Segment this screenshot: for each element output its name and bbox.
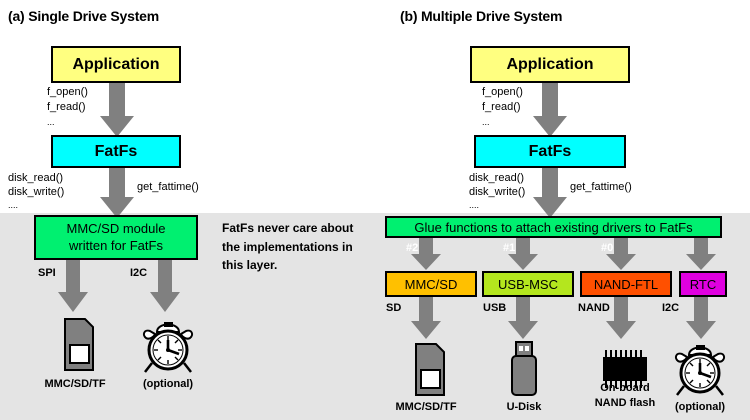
single-device-caption-card: MMC/SD/TF [35,377,115,392]
single-arrow-fatfs-to-module [100,168,134,218]
multi-get-fattime-call: get_fattime() [570,180,632,195]
multi-fatfs-call-ellipsis: .... [469,200,479,212]
single-app-call-ellipsis: ... [47,117,55,129]
glue-functions-box[interactable]: Glue functions to attach existing driver… [385,216,722,238]
multi-fatfs-call-disk-read: disk_read() [469,171,524,186]
multi-fatfs-label: FatFs [529,143,572,161]
single-arrow-spi [58,260,88,312]
bus-label-sd: SD [386,302,401,314]
single-device-caption-clock: (optional) [128,377,208,392]
implementation-note-line2: the implementations in [222,238,353,257]
driver-box-nandftl[interactable]: NAND-FTL [580,271,672,297]
usb-drive-icon [508,341,540,397]
single-mmcsd-module-box[interactable]: MMC/SD module written for FatFs [34,215,198,260]
multi-app-call-ellipsis: ... [482,117,490,129]
single-mmcsd-module-line2: written for FatFs [69,238,163,254]
driver-label-usbmsc: USB-MSC [498,277,558,292]
single-fatfs-call-disk-write: disk_write() [8,185,64,200]
panel-title-multiple-drive: (b) Multiple Drive System [400,8,562,24]
single-app-call-f-read: f_read() [47,100,86,115]
single-fatfs-label: FatFs [95,143,138,161]
multi-arrow-usbmsc-to-udisk [508,297,538,339]
multi-application-label: Application [506,56,593,74]
alarm-clock-icon [140,315,196,373]
sd-card-icon [57,318,94,371]
single-get-fattime-call: get_fattime() [137,180,199,195]
drive-number-0: #0 [601,242,641,254]
multi-arrow-mmcsd-to-card [411,297,441,339]
single-arrow-app-to-fatfs [100,83,134,137]
single-fatfs-call-disk-read: disk_read() [8,171,63,186]
panel-title-single-drive: (a) Single Drive System [8,8,159,24]
multi-app-call-f-open: f_open() [482,85,523,100]
multi-fatfs-call-disk-write: disk_write() [469,185,525,200]
implementation-note: FatFs never care about the implementatio… [222,219,353,275]
single-bus-label-i2c: I2C [130,267,147,279]
glue-functions-label: Glue functions to attach existing driver… [414,220,692,235]
multi-app-call-f-read: f_read() [482,100,521,115]
implementation-note-line1: FatFs never care about [222,219,353,238]
drive-number-2: #2 [406,242,446,254]
multi-application-box[interactable]: Application [470,46,630,83]
driver-box-mmcsd[interactable]: MMC/SD [385,271,477,297]
diagram-canvas: (a) Single Drive System (b) Multiple Dri… [0,0,750,420]
driver-label-mmcsd: MMC/SD [405,277,458,292]
device-caption-udisk: U-Disk [484,400,564,415]
single-arrow-i2c [150,260,180,312]
single-application-box[interactable]: Application [51,46,181,83]
multi-fatfs-box[interactable]: FatFs [474,135,626,168]
multi-arrow-fatfs-to-glue [533,168,567,218]
device-caption-nand-line1: On-board [585,381,665,396]
drive-number-1: #1 [503,242,543,254]
bus-label-usb: USB [483,302,506,314]
driver-label-nandftl: NAND-FTL [594,277,658,292]
single-bus-label-spi: SPI [38,267,56,279]
bus-label-nand: NAND [578,302,610,314]
implementation-note-line3: this layer. [222,256,353,275]
multi-arrow-glue-to-rtc [686,238,716,270]
multi-arrow-app-to-fatfs [533,83,567,137]
device-caption-rtc-optional: (optional) [660,400,740,415]
multi-arrow-rtc-to-clock [686,297,716,339]
device-caption-mmcsdtf: MMC/SD/TF [386,400,466,415]
driver-box-usbmsc[interactable]: USB-MSC [482,271,574,297]
device-caption-nand-line2: NAND flash [585,396,665,411]
driver-label-rtc: RTC [690,277,716,292]
single-fatfs-call-ellipsis: .... [8,200,18,212]
sd-card-icon-multi [408,343,445,396]
single-mmcsd-module-line1: MMC/SD module [67,221,166,237]
device-caption-nand-flash: On-board NAND flash [585,381,665,411]
driver-box-rtc[interactable]: RTC [679,271,727,297]
single-fatfs-box[interactable]: FatFs [51,135,181,168]
multi-arrow-nandftl-to-flash [606,297,636,339]
alarm-clock-icon-multi [672,338,728,396]
single-app-call-f-open: f_open() [47,85,88,100]
bus-label-i2c: I2C [662,302,679,314]
single-application-label: Application [72,56,159,74]
